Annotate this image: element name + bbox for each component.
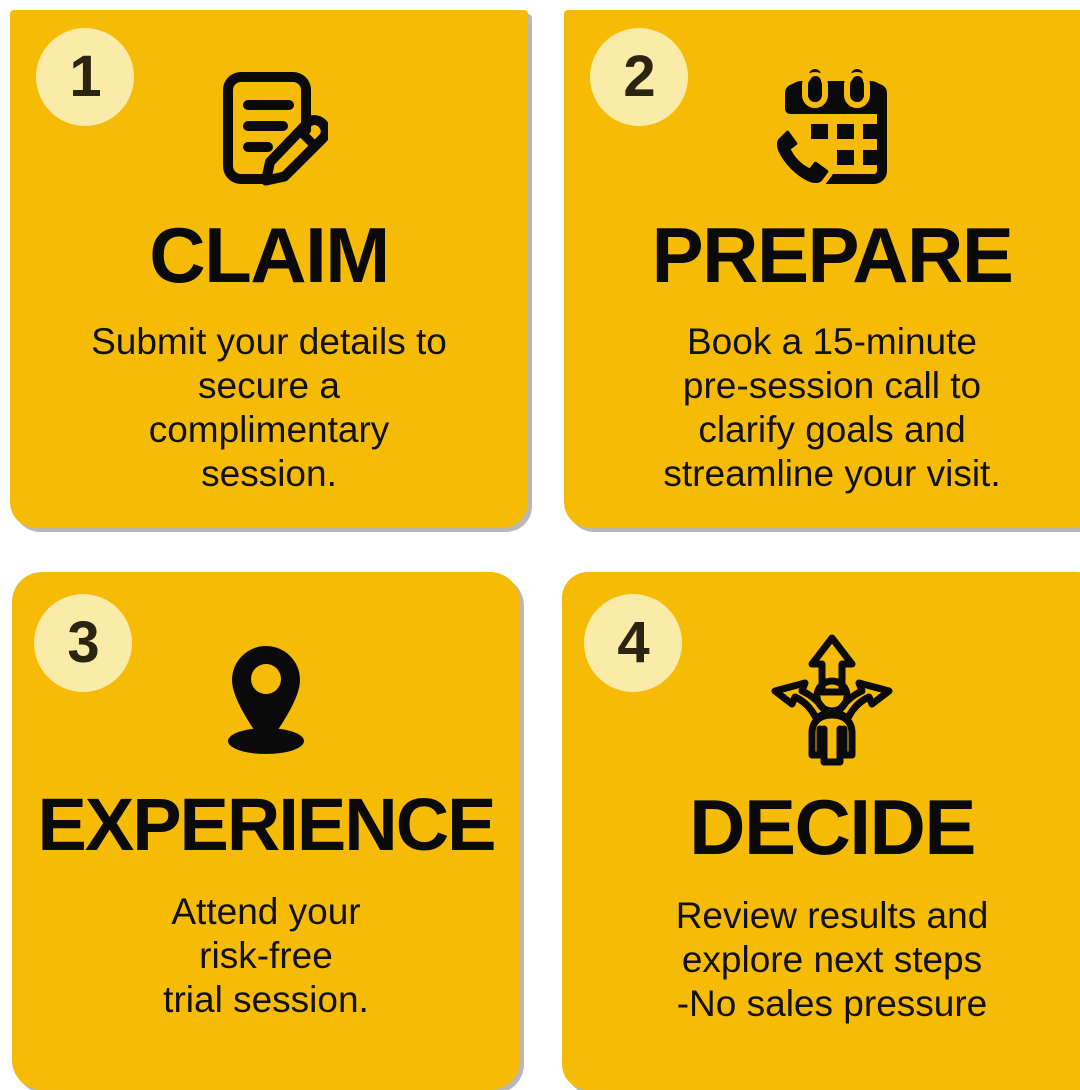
calendar-phone-icon — [769, 62, 895, 194]
step-description-4: Review results and explore next steps -N… — [662, 894, 1003, 1026]
steps-grid: 1 CLAIM Submit your details to secure a … — [0, 0, 1080, 1080]
person-three-arrows-icon — [771, 630, 893, 770]
step-title-2: PREPARE — [652, 216, 1013, 294]
step-card-prepare[interactable]: 2 — [564, 10, 1080, 528]
step-card-experience[interactable]: 3 EXPERIENCE Attend your risk-free trial… — [12, 572, 520, 1090]
step-card-decide[interactable]: 4 — [562, 572, 1080, 1090]
step-title-4: DECIDE — [689, 788, 975, 866]
step-content-3: EXPERIENCE Attend your risk-free trial s… — [12, 572, 520, 1090]
step-title-3: EXPERIENCE — [37, 788, 494, 862]
document-pencil-icon — [210, 62, 328, 194]
map-pin-icon — [218, 630, 314, 770]
step-title-1: CLAIM — [149, 216, 388, 294]
step-content-2: PREPARE Book a 15-minute pre-session cal… — [564, 10, 1080, 528]
step-card-claim[interactable]: 1 CLAIM Submit your details to secure a … — [10, 10, 528, 528]
step-description-1: Submit your details to secure a complime… — [77, 320, 461, 496]
step-content-4: DECIDE Review results and explore next s… — [562, 572, 1080, 1090]
step-content-1: CLAIM Submit your details to secure a co… — [10, 10, 528, 528]
step-description-3: Attend your risk-free trial session. — [149, 890, 383, 1022]
step-description-2: Book a 15-minute pre-session call to cla… — [649, 320, 1014, 496]
infographic-board: 1 CLAIM Submit your details to secure a … — [0, 0, 1080, 1080]
